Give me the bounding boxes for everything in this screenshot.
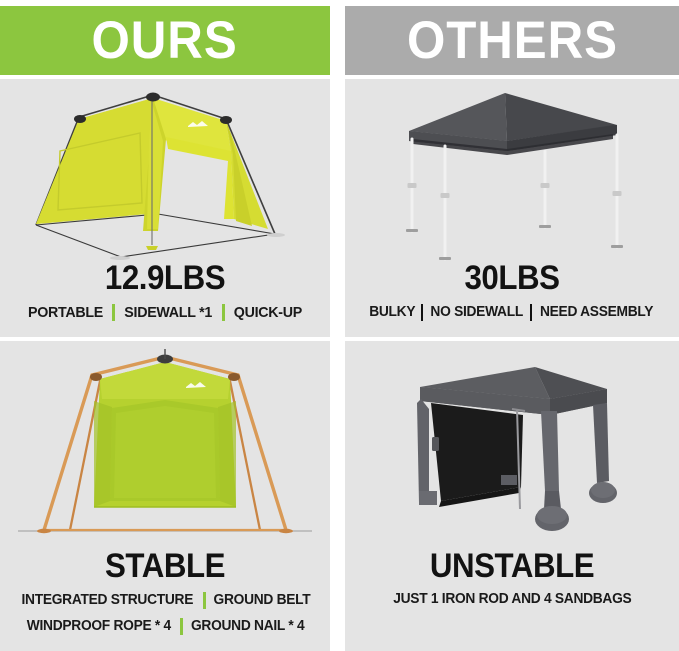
ours-top-caption: 12.9LBS PORTABLE SIDEWALL *1 QUICK-UP [0, 261, 330, 321]
spec-separator-icon [203, 592, 206, 609]
spec-ground-belt: GROUND BELT [213, 593, 310, 608]
ours-top-specs: PORTABLE SIDEWALL *1 QUICK-UP [0, 304, 330, 321]
others-weight-label: 30LBS [358, 261, 665, 295]
ours-bottom-caption: STABLE INTEGRATED STRUCTURE GROUND BELT … [0, 549, 330, 635]
column-ours: OURS [0, 0, 330, 651]
ours-bottom-specs-line1: INTEGRATED STRUCTURE GROUND BELT [0, 592, 330, 609]
others-bottom-image [345, 341, 679, 549]
banner-ours-label: OURS [92, 14, 238, 67]
spec-windproof-rope: WINDPROOF ROPE * 4 [27, 619, 171, 634]
spec-ground-nail: GROUND NAIL * 4 [191, 619, 304, 634]
spec-integrated-structure: INTEGRATED STRUCTURE [22, 593, 194, 608]
spec-need-assembly: NEED ASSEMBLY [540, 305, 653, 320]
spec-portable: PORTABLE [28, 305, 103, 320]
green-canopy-illustration [0, 79, 330, 265]
green-tent-illustration [0, 341, 330, 549]
panel-ours-top: 12.9LBS PORTABLE SIDEWALL *1 QUICK-UP [0, 79, 330, 337]
spec-no-sidewall: NO SIDEWALL [430, 305, 523, 320]
spec-separator-icon [421, 304, 423, 321]
banner-ours: OURS [0, 6, 330, 75]
others-top-image [345, 79, 679, 265]
column-others: OTHERS [345, 0, 679, 651]
gray-canopy-illustration [345, 79, 679, 265]
ours-stability-label: STABLE [13, 549, 317, 583]
spec-bulky: BULKY [369, 305, 415, 320]
spec-iron-rod-sandbags: JUST 1 IRON ROD AND 4 SANDBAGS [393, 592, 631, 607]
spec-separator-icon [530, 304, 532, 321]
banner-others: OTHERS [345, 6, 679, 75]
spec-sidewall: SIDEWALL *1 [125, 305, 213, 320]
spec-separator-icon [180, 618, 183, 635]
banner-others-label: OTHERS [407, 14, 618, 67]
ours-top-image [0, 79, 330, 265]
gray-canopy-sidewall-illustration [345, 341, 679, 549]
spec-separator-icon [112, 304, 115, 321]
spec-quick-up: QUICK-UP [234, 305, 302, 320]
panel-ours-bottom: STABLE INTEGRATED STRUCTURE GROUND BELT … [0, 341, 330, 651]
comparison-board: OURS [0, 0, 679, 651]
ours-weight-label: 12.9LBS [13, 261, 317, 295]
others-top-specs: BULKY NO SIDEWALL NEED ASSEMBLY [345, 304, 679, 321]
spec-separator-icon [222, 304, 225, 321]
panel-others-bottom: UNSTABLE JUST 1 IRON ROD AND 4 SANDBAGS [345, 341, 679, 651]
panel-others-top: 30LBS BULKY NO SIDEWALL NEED ASSEMBLY [345, 79, 679, 337]
others-stability-label: UNSTABLE [358, 549, 665, 583]
ours-bottom-image [0, 341, 330, 549]
others-bottom-specs: JUST 1 IRON ROD AND 4 SANDBAGS [345, 592, 679, 607]
others-bottom-caption: UNSTABLE JUST 1 IRON ROD AND 4 SANDBAGS [345, 549, 679, 607]
others-top-caption: 30LBS BULKY NO SIDEWALL NEED ASSEMBLY [345, 261, 679, 321]
ours-bottom-specs-line2: WINDPROOF ROPE * 4 GROUND NAIL * 4 [0, 618, 330, 635]
